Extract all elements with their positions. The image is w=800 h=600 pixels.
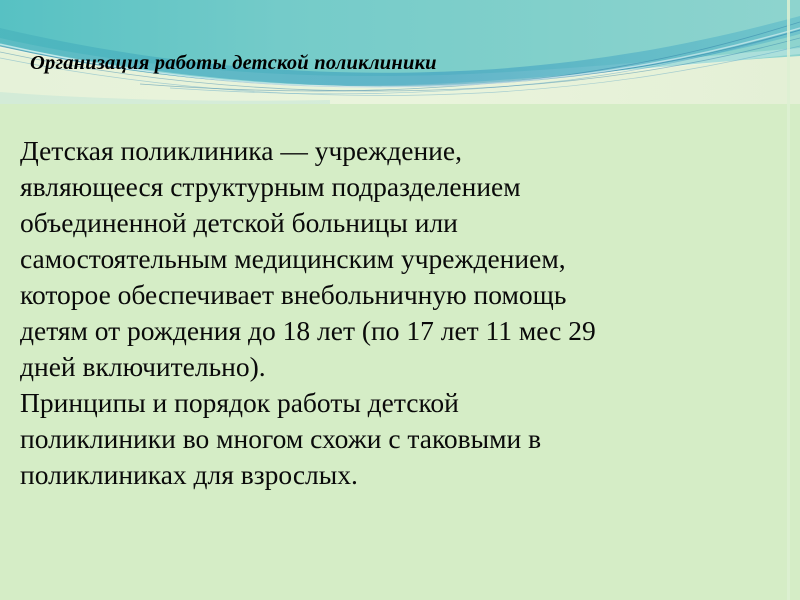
text-line: дней включительно). — [20, 349, 790, 385]
text-line: Детская поликлиника — учреждение, — [20, 133, 790, 169]
slide-body-text: Детская поликлиника — учреждение, являющ… — [20, 133, 790, 493]
paragraph-principles: Принципы и порядок работы детской поликл… — [20, 385, 790, 493]
text-line: которое обеспечивает внебольничную помощ… — [20, 277, 790, 313]
text-line: детям от рождения до 18 лет (по 17 лет 1… — [20, 313, 790, 349]
text-line: поликлиниках для взрослых. — [20, 457, 790, 493]
presentation-slide: Организация работы детской поликлиники Д… — [0, 0, 800, 600]
paragraph-definition: Детская поликлиника — учреждение, являющ… — [20, 133, 790, 385]
text-line: поликлиники во многом схожи с таковыми в — [20, 421, 790, 457]
text-line: Принципы и порядок работы детской — [20, 385, 790, 421]
text-line: самостоятельным медицинским учреждением, — [20, 241, 790, 277]
text-line: объединенной детской больницы или — [20, 205, 790, 241]
slide-title: Организация работы детской поликлиники — [30, 52, 437, 75]
text-line: являющееся структурным подразделением — [20, 169, 790, 205]
